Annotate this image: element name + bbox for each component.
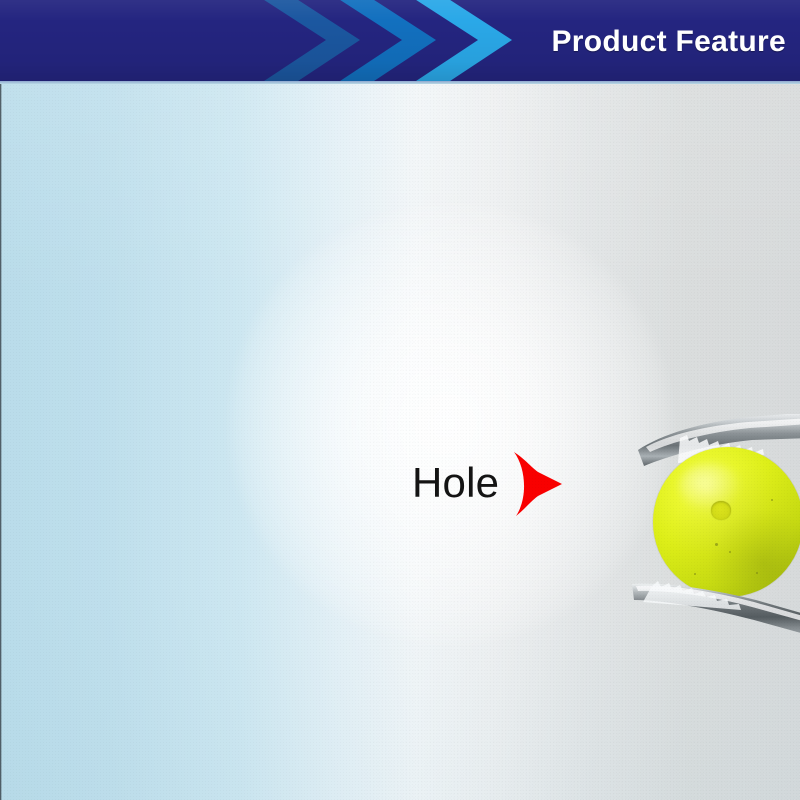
right-arrow-shape	[514, 452, 562, 516]
chevron-arrows-graphic	[252, 0, 514, 81]
banner-title: Product Feature	[551, 27, 786, 57]
bead-speck	[715, 543, 718, 546]
photo-left-edge	[0, 84, 2, 800]
product-feature-slide: Product Feature	[0, 0, 800, 800]
bead-speck	[771, 499, 773, 501]
bead-speck	[729, 551, 731, 553]
bead-hole	[711, 501, 731, 520]
hole-label: Hole	[412, 462, 499, 504]
tweezers-lower-arm	[628, 570, 800, 636]
product-photo: Hole	[0, 84, 800, 800]
chevron-1-icon	[258, 0, 360, 81]
bead-highlight	[679, 463, 741, 509]
header-banner: Product Feature	[0, 0, 800, 81]
right-arrow-icon	[508, 450, 564, 518]
